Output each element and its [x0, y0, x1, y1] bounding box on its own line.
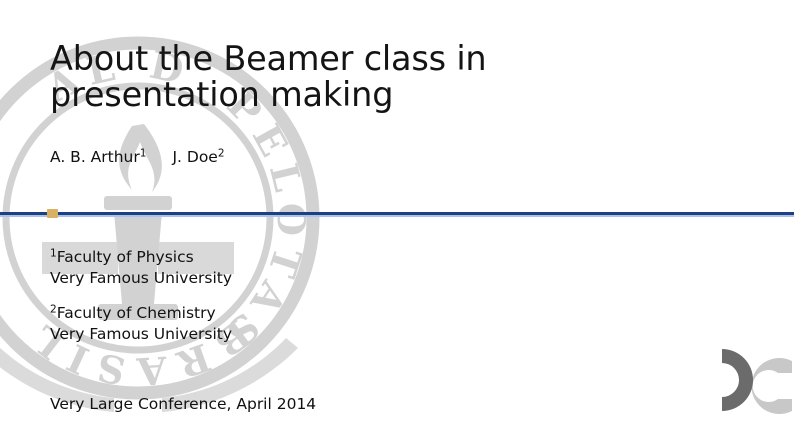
- interlocking-c-logo: [716, 343, 794, 421]
- author-2-name: J. Doe: [172, 148, 217, 166]
- beamer-title-slide: AL D BRASIL PELOTAS: [0, 0, 794, 447]
- affiliation-2: 2Faculty of Chemistry Very Famous Univer…: [50, 303, 232, 345]
- author-list: A. B. Arthur1J. Doe2: [50, 147, 225, 167]
- affiliation-2-marker: 2: [50, 304, 57, 316]
- affiliation-1-department-line: 1Faculty of Physics: [50, 247, 232, 268]
- affiliation-2-department-line: 2Faculty of Chemistry: [50, 303, 232, 324]
- affiliation-1: 1Faculty of Physics Very Famous Universi…: [50, 247, 232, 289]
- affiliation-2-department: Faculty of Chemistry: [57, 304, 216, 322]
- author-2-marker: 2: [218, 148, 225, 160]
- affiliation-1-institution: Very Famous University: [50, 268, 232, 289]
- author-1-name: A. B. Arthur: [50, 148, 140, 166]
- title-separator-rule-highlight: [0, 215, 794, 217]
- author-2: J. Doe2: [172, 147, 224, 167]
- separator-marker-diamond: [47, 209, 58, 218]
- affiliation-list: 1Faculty of Physics Very Famous Universi…: [50, 247, 232, 345]
- author-1: A. B. Arthur1: [50, 147, 146, 167]
- title-line-1: About the Beamer class in: [50, 41, 750, 77]
- slide-title: About the Beamer class in presentation m…: [50, 41, 750, 113]
- title-line-2: presentation making: [50, 77, 750, 113]
- affiliation-1-department: Faculty of Physics: [57, 248, 194, 266]
- affiliation-2-institution: Very Famous University: [50, 324, 232, 345]
- author-1-marker: 1: [140, 148, 147, 160]
- affiliation-1-marker: 1: [50, 248, 57, 260]
- conference-date: Very Large Conference, April 2014: [50, 394, 316, 414]
